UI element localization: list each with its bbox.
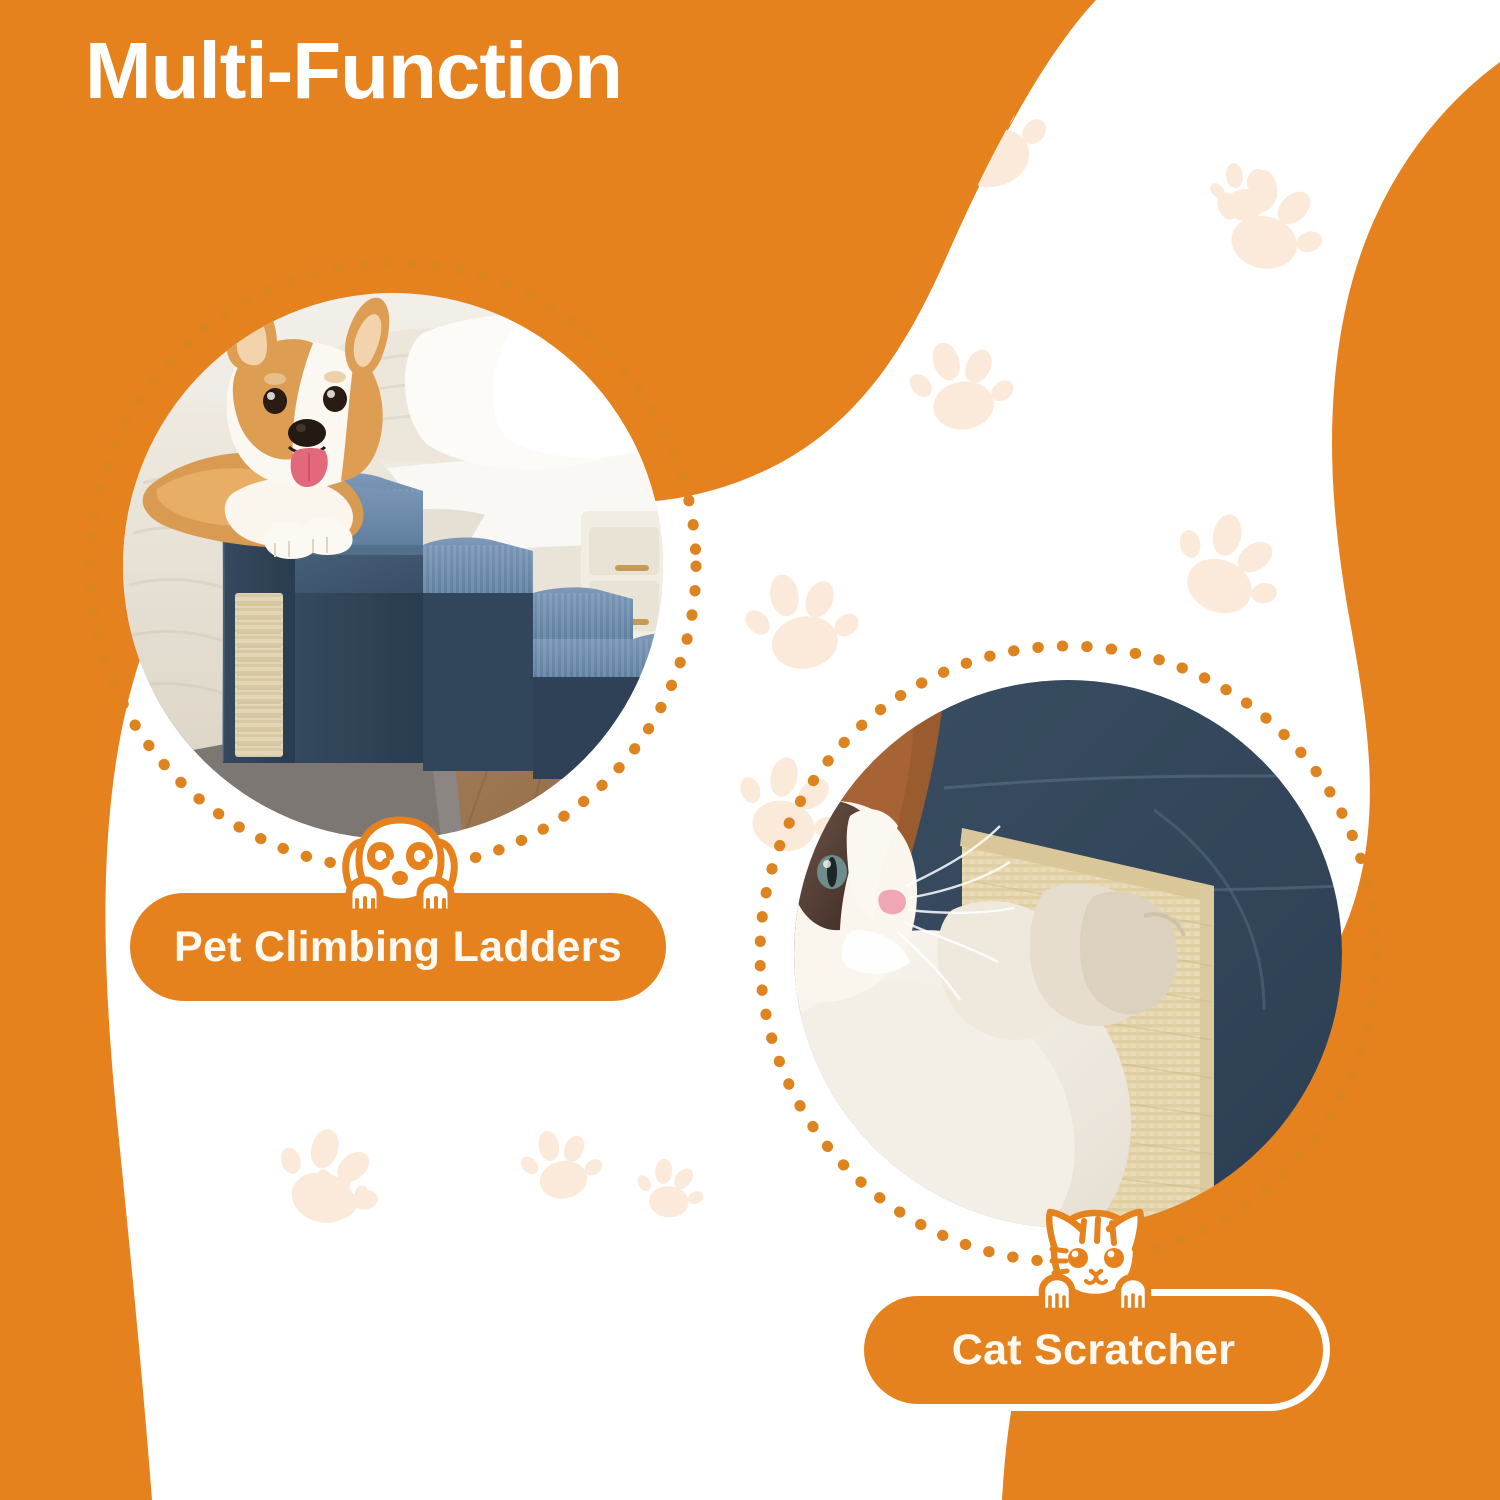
peeking-dog-icon [337, 812, 463, 917]
feature-card-cat-scratcher [752, 638, 1384, 1270]
peeking-cat-icon [1034, 1205, 1156, 1315]
feature-photo-cat [794, 680, 1342, 1228]
feature-card-pet-climbing-ladders [82, 252, 704, 880]
feature-photo-dog [123, 293, 663, 839]
page-title: Multi-Function [85, 28, 622, 114]
badge-label-cat-scratcher: Cat Scratcher [952, 1326, 1236, 1375]
badge-label-pet-climbing-ladders: Pet Climbing Ladders [174, 923, 622, 972]
